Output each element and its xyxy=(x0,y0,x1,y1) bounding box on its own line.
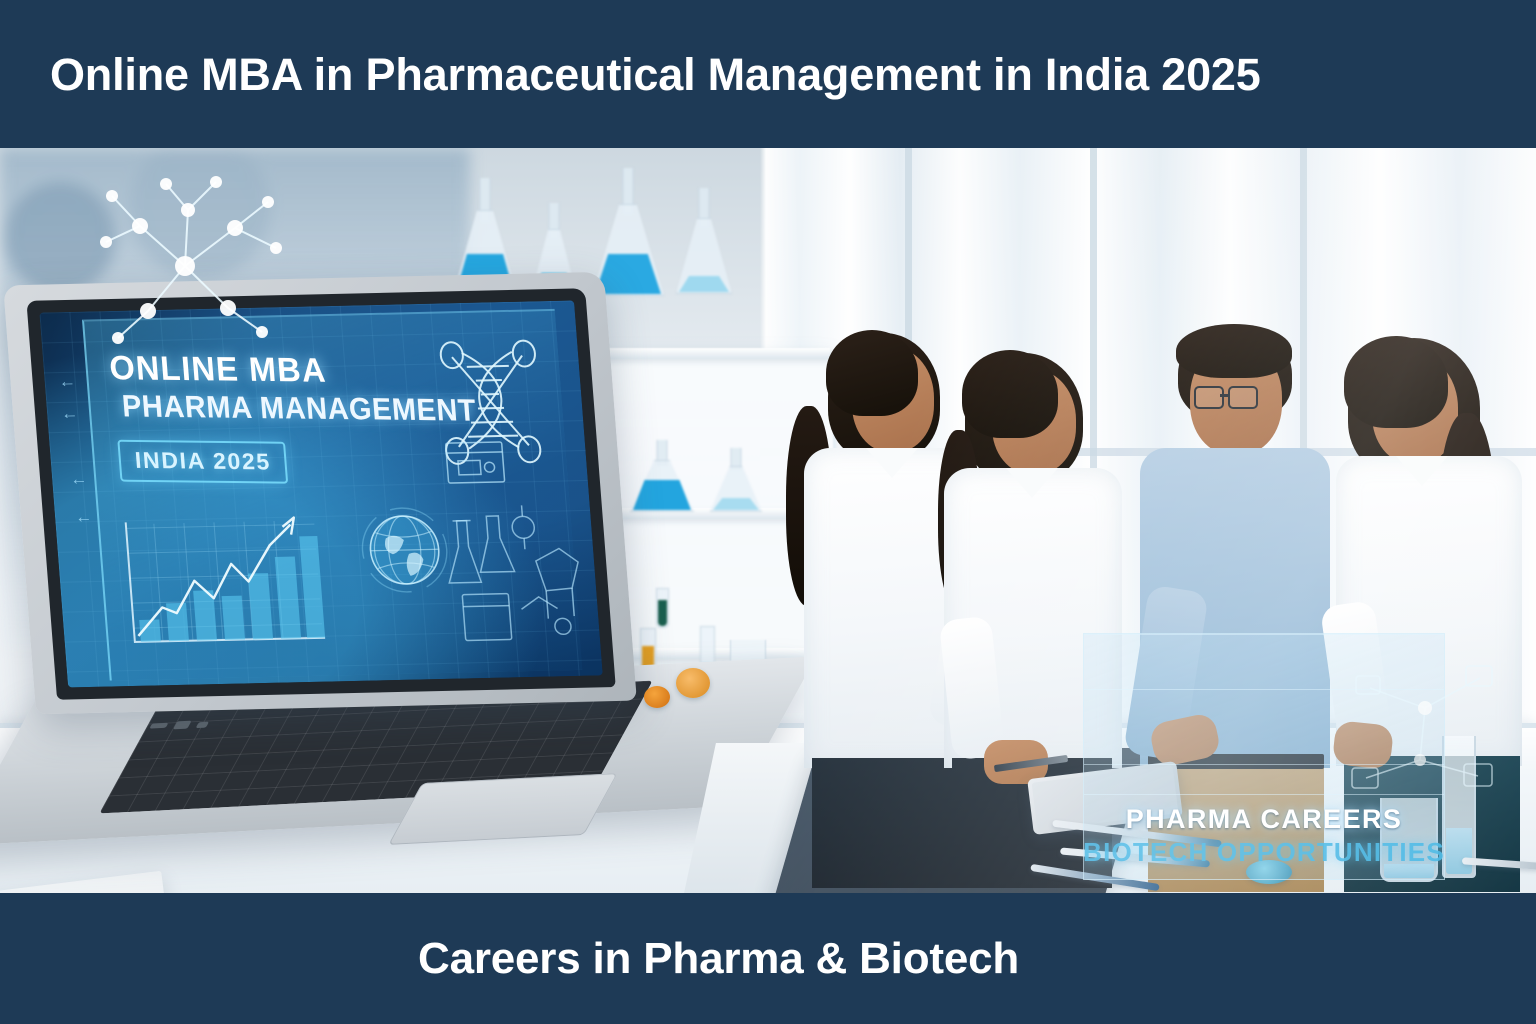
laptop-trackpad[interactable] xyxy=(388,773,618,845)
hair-front xyxy=(1344,336,1448,428)
laptop-screen[interactable]: ← ← ← ← ONLINE MBA PHARMA MANAGEMENT IND… xyxy=(39,300,602,687)
hair-front xyxy=(962,350,1058,438)
hud-marker: ← xyxy=(69,469,88,489)
screen-badge-india-2025: INDIA 2025 xyxy=(117,440,288,484)
footer-title: Careers in Pharma & Biotech xyxy=(418,937,1019,981)
poster-root: Online MBA in Pharmaceutical Management … xyxy=(0,0,1536,1024)
hologram-subtitle: BIOTECH OPPORTUNITIES xyxy=(1083,837,1445,868)
shirt-collar xyxy=(866,448,918,478)
petri-dish-icon xyxy=(644,686,670,708)
molecule-icon xyxy=(70,166,300,356)
hud-marker: ← xyxy=(58,372,77,392)
hair-front xyxy=(826,330,918,416)
shirt-collar xyxy=(1396,456,1448,486)
network-nodes-icon xyxy=(1340,648,1510,818)
header-banner: Online MBA in Pharmaceutical Management … xyxy=(0,0,1536,148)
trousers xyxy=(812,758,972,888)
petri-dish-icon xyxy=(676,668,710,698)
shirt-collar xyxy=(1006,468,1058,498)
footer-banner: Careers in Pharma & Biotech xyxy=(0,893,1536,1024)
lab-equipment-icon xyxy=(435,500,592,653)
flask-icon xyxy=(592,168,664,296)
hair-top xyxy=(1176,324,1292,378)
browser-window-icon xyxy=(442,438,508,487)
hud-marker: ← xyxy=(60,404,79,424)
laptop: ← ← ← ← ONLINE MBA PHARMA MANAGEMENT IND… xyxy=(8,278,768,893)
bar-chart-icon xyxy=(103,504,346,669)
hud-marker: ← xyxy=(74,507,93,527)
hero-photo: PHARMA CAREERS BIOTECH OPPORTUNITIES xyxy=(0,148,1536,893)
page-title: Online MBA in Pharmaceutical Management … xyxy=(50,52,1261,97)
